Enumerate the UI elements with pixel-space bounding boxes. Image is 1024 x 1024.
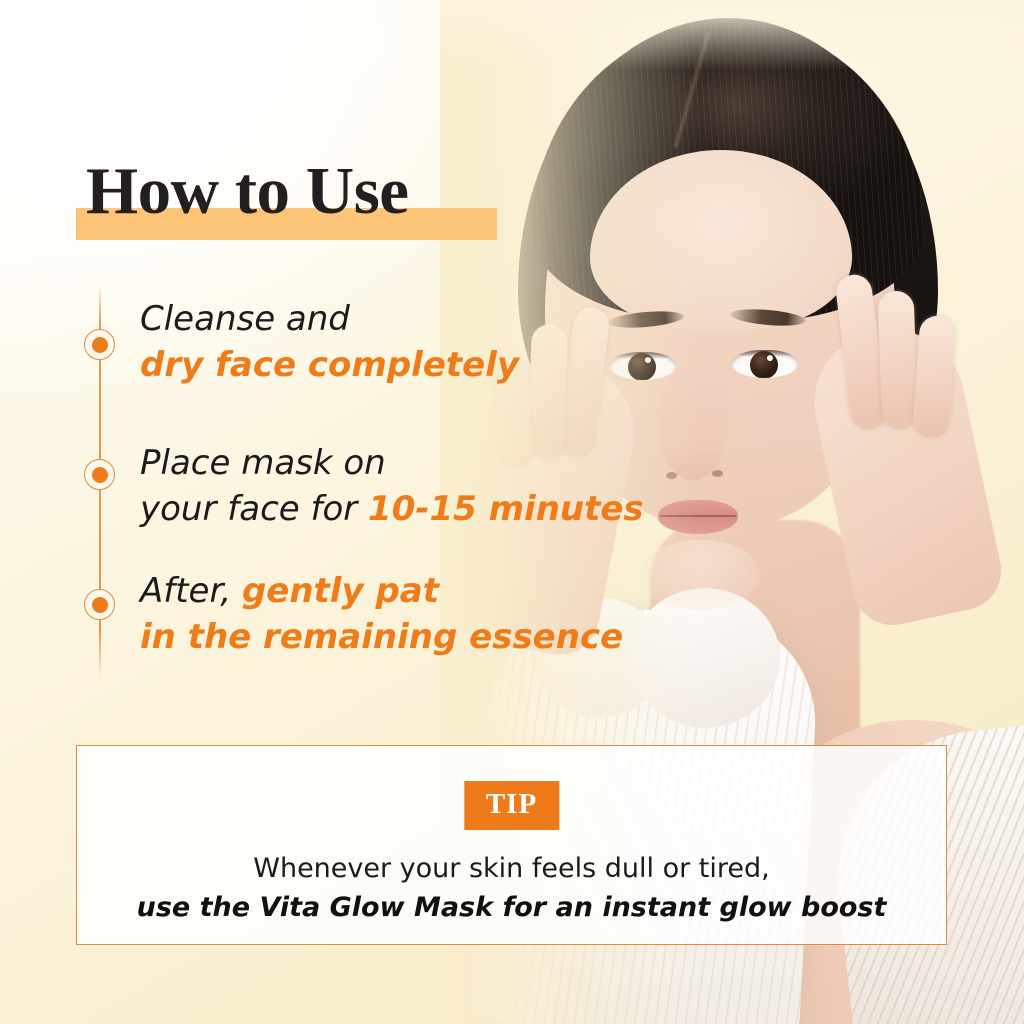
step-bullet-2 — [84, 459, 115, 490]
step-item-3: After, gently pat in the remaining essen… — [140, 568, 680, 660]
step-1-line-1: Cleanse and — [140, 296, 680, 342]
how-to-use-panel: How to Use Cleanse and dry face complete… — [0, 0, 1024, 1024]
content-layer: How to Use Cleanse and dry face complete… — [0, 0, 1024, 1024]
step-3-line-1-accent: gently pat — [242, 571, 439, 611]
step-2-line-1: Place mask on — [140, 440, 680, 486]
step-3-line-2-accent: in the remaining essence — [140, 617, 623, 657]
step-2-line-1-plain: Place mask on — [140, 443, 386, 483]
tip-box: TIP Whenever your skin feels dull or tir… — [76, 745, 947, 945]
step-2-line-2-plain: your face for — [140, 489, 368, 529]
tip-line-2: use the Vita Glow Mask for an instant gl… — [77, 888, 946, 928]
page-title: How to Use — [76, 158, 546, 248]
step-1-line-2-accent: dry face completely — [140, 345, 519, 385]
tip-badge: TIP — [464, 781, 559, 830]
page-title-text: How to Use — [86, 158, 409, 225]
tip-text: Whenever your skin feels dull or tired, … — [77, 850, 946, 928]
step-3-line-1-plain: After, — [140, 571, 242, 611]
step-2-line-2: your face for 10-15 minutes — [140, 486, 680, 532]
step-3-line-1: After, gently pat — [140, 568, 680, 614]
step-3-line-2: in the remaining essence — [140, 614, 680, 660]
tip-line-1: Whenever your skin feels dull or tired, — [77, 850, 946, 888]
step-1-line-2: dry face completely — [140, 342, 680, 388]
step-1-line-1-plain: Cleanse and — [140, 299, 350, 339]
step-bullet-3 — [84, 589, 115, 620]
step-item-1: Cleanse and dry face completely — [140, 296, 680, 388]
step-item-2: Place mask on your face for 10-15 minute… — [140, 440, 680, 532]
step-bullet-1 — [84, 329, 115, 360]
step-2-duration: 10-15 minutes — [368, 489, 644, 529]
